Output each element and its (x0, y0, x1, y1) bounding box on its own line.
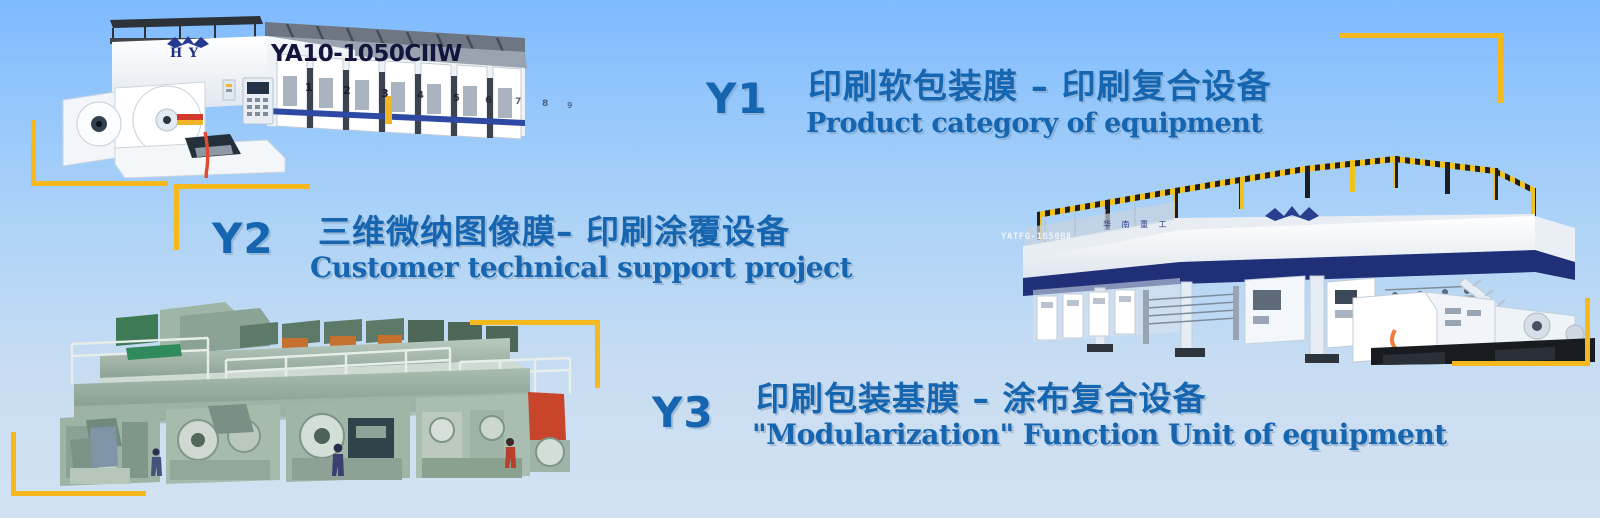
machine-model-label: YA10-1050CIIW (271, 41, 462, 67)
section-chinese-y1: 印刷软包装膜 – 印刷复合设备 (808, 70, 1272, 104)
equipment-banner: H Y YA10-1050CIIW 1 2 3 4 5 6 7 8 9 (0, 0, 1600, 518)
section-english-y1: Product category of equipment (806, 110, 1262, 137)
bracket-machine3-top-right (470, 320, 605, 390)
unit-number-1: 1 (305, 81, 313, 94)
unit-number-9: 9 (567, 101, 573, 110)
section-chinese-y2: 三维微纳图像膜– 印刷涂覆设备 (318, 215, 790, 248)
unit-number-3: 3 (381, 87, 389, 100)
machine-model-label-2: YATFG-1650BⅡ (1001, 232, 1071, 242)
bracket-machine3-bottom-left (11, 432, 151, 500)
machine-brand-chinese-2: 华 南 重 工 (1103, 219, 1171, 230)
bracket-y1-top-right (1340, 33, 1510, 105)
unit-number-4: 4 (417, 90, 424, 101)
unit-number-8: 8 (542, 99, 548, 109)
unit-number-7: 7 (515, 97, 521, 107)
unit-number-2: 2 (343, 84, 351, 97)
section-english-y2: Customer technical support project (310, 254, 852, 282)
section-chinese-y3: 印刷包装基膜 – 涂布复合设备 (756, 382, 1206, 415)
bracket-machine2-bottom-right (1452, 298, 1592, 370)
unit-number-6: 6 (485, 95, 492, 106)
bird-logo-icon (165, 34, 211, 54)
section-code-y3: Y3 (652, 392, 714, 434)
section-code-y1: Y1 (706, 78, 768, 120)
bracket-machine1-bottom-left (31, 120, 171, 190)
unit-number-5: 5 (453, 93, 460, 104)
section-english-y3: "Modularization" Function Unit of equipm… (752, 421, 1447, 449)
bracket-y2-corner (174, 184, 314, 254)
